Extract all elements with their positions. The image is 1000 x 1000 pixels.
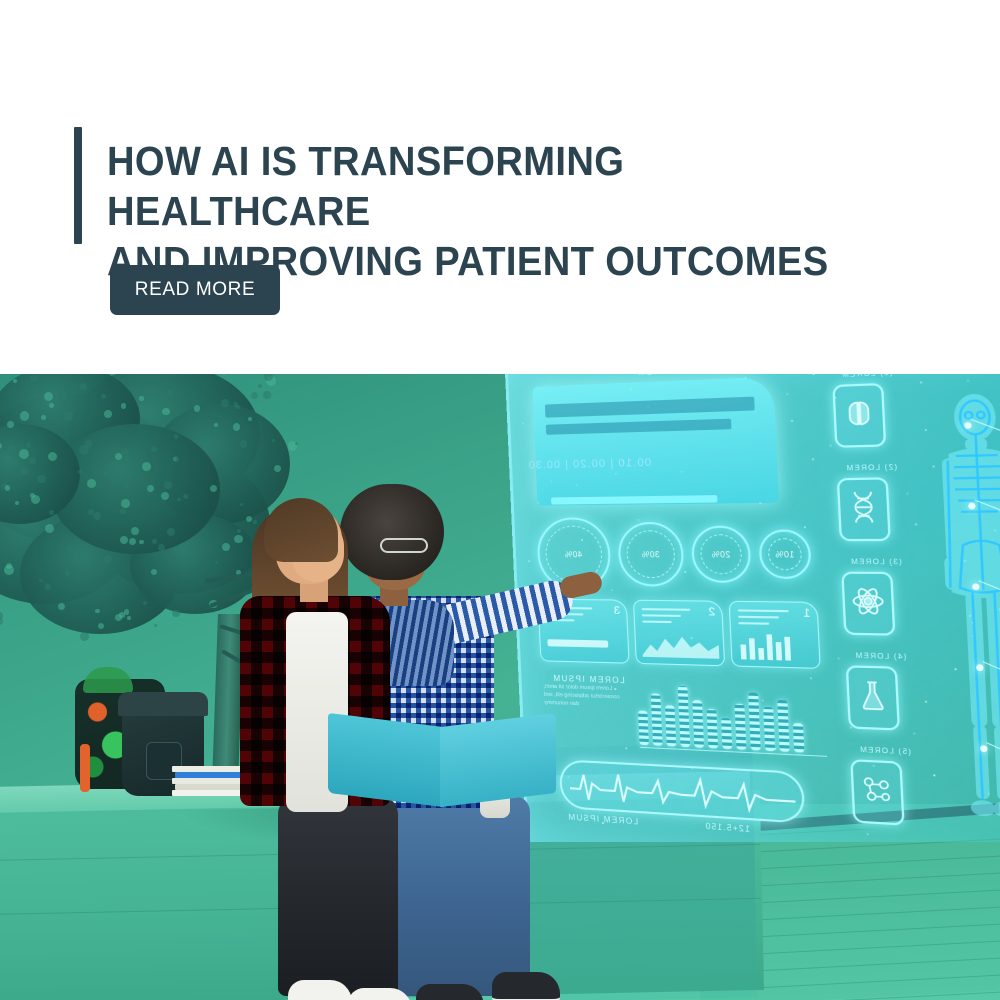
book-page-left: [328, 713, 444, 807]
hud-chart-bar: [665, 706, 676, 747]
hud-mini-card-number: 1: [803, 607, 811, 620]
tree-leaf: [20, 411, 30, 421]
hud-icon-label-text: (4) LOREM: [854, 652, 906, 661]
hud-chart-bar: [707, 709, 719, 748]
read-more-button[interactable]: READ MORE: [110, 265, 280, 315]
tree-leaf: [172, 610, 179, 617]
book-page-right: [440, 713, 556, 807]
hud-chart-bar: [748, 692, 761, 750]
tree-leaf: [152, 539, 157, 544]
hud-chart-bar: [692, 701, 704, 748]
hud-mini-card-line: [642, 614, 681, 617]
page-root: HOW AI IS TRANSFORMING HEALTHCARE AND IM…: [0, 0, 1000, 1000]
hud-mini-bar: [740, 644, 746, 659]
tree-leaf: [79, 383, 86, 390]
tree-leaf: [93, 512, 101, 520]
woman-jeans: [278, 796, 398, 996]
woman-hair-front: [264, 498, 338, 562]
hero-banner: HOW AI IS TRANSFORMING HEALTHCARE AND IM…: [0, 0, 1000, 374]
man-pointing-hand: [558, 570, 604, 600]
tree-leaf: [183, 494, 188, 499]
tree-leaf: [121, 499, 130, 508]
hud-particle: [913, 732, 915, 734]
tree-leaf: [177, 498, 180, 501]
tree-leaf: [258, 384, 262, 388]
tree-leaf: [167, 528, 175, 536]
hud-callout-dot: [968, 503, 976, 510]
hud-mini-card-bar[interactable]: 1: [729, 601, 821, 669]
tree-leaf: [122, 455, 130, 463]
hud-top-bar: [545, 397, 755, 418]
tree-leaf: [235, 405, 240, 410]
tree-leaf: [119, 612, 125, 618]
tree-leaf: [143, 601, 147, 605]
hud-chart-bar: [793, 723, 805, 753]
hud-chart-bar: [638, 711, 649, 746]
hud-mini-card-number: 2: [708, 606, 715, 619]
tree-leaf: [222, 543, 230, 551]
hud-callout-dot: [980, 745, 988, 752]
hud-mini-card-area[interactable]: 2: [633, 600, 725, 667]
tree-leaf: [65, 571, 70, 576]
tree-leaf: [263, 391, 270, 398]
hud-mini-card-line: [642, 621, 672, 624]
hud-mini-bars: [740, 632, 815, 662]
hud-area-chart-icon: [642, 632, 720, 659]
tree-leaf: [127, 616, 131, 620]
students-group: [230, 484, 630, 1000]
hud-particle: [920, 382, 922, 384]
man-shoe-right: [492, 972, 560, 1000]
hud-ring-label: 10%: [775, 549, 795, 559]
hud-top-bar-2: [546, 419, 732, 435]
atom-icon: [851, 585, 885, 622]
molecule-icon: [861, 774, 893, 810]
hud-particle: [791, 420, 793, 422]
tree-leaf: [95, 609, 100, 614]
hud-particle: [906, 493, 908, 495]
tree-leaf: [104, 410, 112, 418]
hud-chart-bar: [763, 707, 775, 751]
tree-leaf: [154, 624, 157, 627]
hud-mini-bar: [749, 638, 756, 659]
hud-particle: [522, 422, 524, 424]
hud-icon-label: (2) LOREM: [829, 464, 897, 473]
man-jeans: [380, 796, 530, 996]
tree-leaf: [162, 408, 169, 415]
hud-flask-icon-button[interactable]: [846, 665, 900, 730]
hud-callout-dot: [976, 664, 984, 671]
hud-chart-bar: [678, 686, 690, 747]
hud-icon-label-text: (2) LOREM: [845, 464, 897, 473]
open-book: [328, 720, 554, 806]
tree-leaf: [63, 411, 73, 421]
brain-icon: [844, 398, 873, 433]
tree-leaf: [264, 374, 273, 381]
tree-leaf: [295, 442, 298, 445]
tree-leaf: [240, 440, 247, 447]
tree-leaf: [251, 392, 258, 399]
hud-ring-20[interactable]: 20%: [691, 525, 752, 582]
man-afro-hair: [340, 484, 444, 580]
tree-leaf: [129, 538, 136, 545]
tree-leaf: [7, 445, 17, 455]
tree-leaf: [174, 434, 179, 439]
page-title: HOW AI IS TRANSFORMING HEALTHCARE AND IM…: [107, 136, 870, 286]
man-glasses: [380, 538, 428, 553]
tree-leaf: [147, 485, 154, 492]
hud-mini-card-line: [738, 609, 789, 612]
hud-body-figure: LOREM IPSUMLorem ipsum dolor sit amet, c…: [910, 386, 1000, 831]
tree-leaf: [142, 462, 151, 471]
tree-leaf: [101, 394, 106, 399]
hud-brain-icon-button[interactable]: [832, 383, 886, 448]
tree-leaf: [121, 403, 127, 409]
hud-mini-card-line: [738, 622, 769, 625]
tree-leaf: [37, 475, 45, 483]
hud-particle: [812, 374, 814, 375]
backpack-strap: [80, 744, 90, 792]
hud-particle: [811, 458, 813, 460]
dna-icon: [850, 490, 877, 529]
hud-ring-label: 20%: [711, 549, 730, 559]
hud-chart-bar: [721, 718, 732, 749]
tree-leaf: [214, 423, 218, 427]
hud-icon-label: (5) LOREM: [843, 746, 911, 757]
hud-callout-dot: [972, 583, 980, 590]
tree-leaf: [21, 468, 28, 475]
hud-atom-icon-button[interactable]: [841, 572, 895, 636]
tree-leaf: [120, 536, 128, 544]
tree-leaf: [30, 375, 38, 383]
hud-icon-label-text: (5) LOREM: [858, 746, 910, 756]
hud-mini-bar: [758, 648, 764, 660]
hud-icon-label: (4) LOREM: [838, 652, 906, 661]
hud-mini-bar: [766, 634, 773, 660]
hud-top-panel-numbers: 00.10 | 00.20 | 00.30: [528, 457, 652, 472]
hud-chart-bar: [651, 693, 663, 746]
hud-icon-label: (1) LOREM: [825, 374, 893, 380]
tree-leaf: [5, 485, 10, 490]
hud-molecule-icon-button[interactable]: [850, 759, 904, 826]
hud-particle: [786, 393, 788, 395]
tree-leaf: [139, 396, 144, 401]
tree-leaf: [104, 555, 112, 563]
tree-leaf: [222, 374, 226, 375]
flask-icon: [859, 679, 886, 716]
hero-photo: LOREM 00.10 | 00.20 | 00.30 40%30%20%10%…: [0, 374, 1000, 1000]
hud-ecg-value: 12+5.150: [704, 821, 750, 834]
hud-ring-10[interactable]: 10%: [758, 529, 812, 579]
tree-leaf: [85, 440, 92, 447]
hud-mini-card-line: [738, 616, 779, 619]
tree-leaf: [151, 446, 157, 452]
hud-ring-label: 30%: [641, 550, 660, 559]
hud-icon-column: (1) LOREM(2) LOREM(3) LOREM(4) LOREM(5) …: [825, 374, 913, 842]
tree-leaf: [210, 485, 217, 492]
tree-leaf: [80, 632, 89, 641]
hud-icon-label-text: (3) LOREM: [849, 559, 901, 567]
hud-top-panel-title: LOREM: [637, 374, 675, 377]
tree-leaf: [26, 442, 31, 447]
headline-line-1: HOW AI IS TRANSFORMING HEALTHCARE: [107, 138, 624, 234]
tree-leaf: [121, 448, 128, 455]
tree-leaf: [124, 484, 127, 487]
tree-leaf: [0, 617, 3, 625]
tree-leaf: [233, 423, 241, 431]
hud-particle: [967, 380, 970, 382]
hud-icon-label: (3) LOREM: [834, 559, 902, 567]
woman-shoe-left: [288, 980, 352, 1000]
accent-bar: [74, 127, 82, 244]
tree-leaf: [7, 421, 14, 428]
hud-mini-card-line: [642, 608, 691, 611]
human-skeleton-icon: [910, 386, 1000, 827]
tree-leaf: [67, 545, 75, 553]
tree-leaf: [45, 524, 54, 533]
hud-chart-bar: [777, 699, 790, 751]
hud-icon-label-text: (1) LOREM: [840, 374, 892, 379]
hud-mini-bar: [784, 637, 791, 661]
tree-leaf: [194, 405, 201, 412]
hud-dna-icon-button[interactable]: [837, 477, 891, 541]
tree-leaf: [248, 417, 252, 421]
hud-mini-bar: [776, 642, 782, 660]
tree-leaf: [45, 584, 51, 590]
hud-chart-bar: [735, 704, 747, 750]
tree-leaf: [88, 509, 94, 515]
hud-bar-chart-bars: [637, 680, 827, 753]
